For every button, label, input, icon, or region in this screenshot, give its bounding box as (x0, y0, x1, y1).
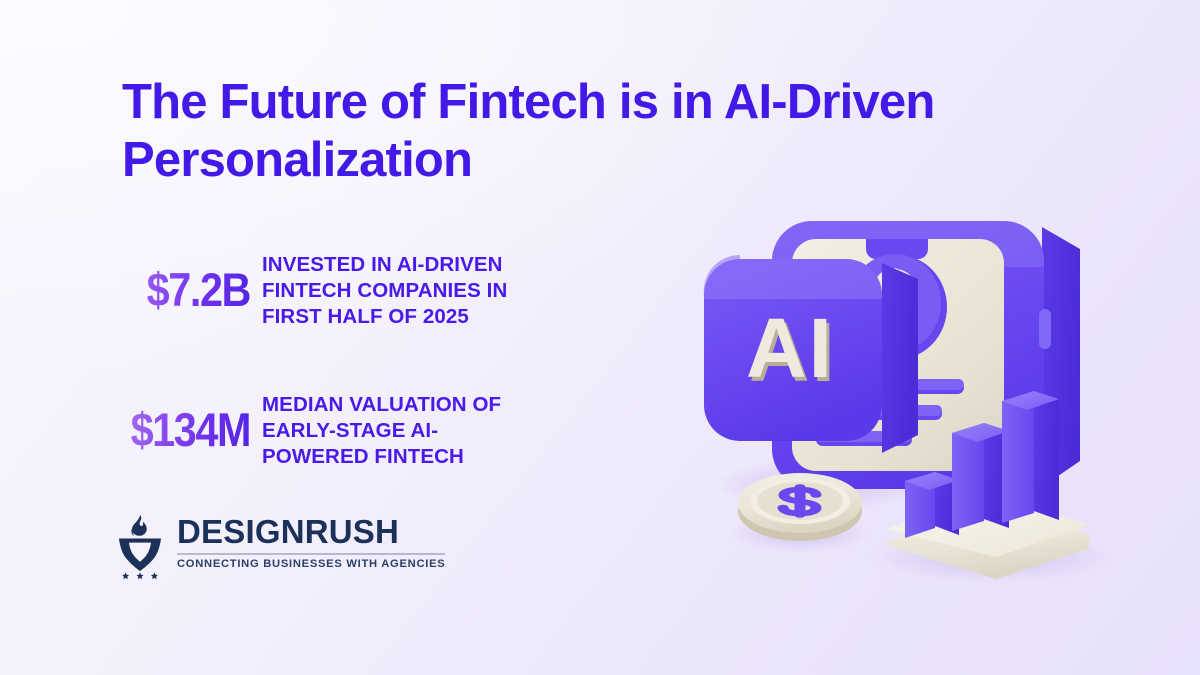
ai-cube-3d: AI AI (704, 255, 918, 453)
infographic-canvas: The Future of Fintech is in AI-Driven Pe… (0, 0, 1200, 675)
stat-block: $134M MEDIAN VALUATION OF EARLY-STAGE AI… (110, 392, 610, 471)
dollar-coin-3d (738, 473, 862, 541)
stat-value: $134M (127, 392, 250, 453)
logo-divider (177, 553, 445, 555)
logo-tagline: CONNECTING BUSINESSES WITH AGENCIES (177, 559, 445, 570)
torch-flame-chevron-three-stars-icon (113, 509, 167, 581)
designrush-logo: DESIGNRUSH CONNECTING BUSINESSES WITH AG… (113, 509, 445, 581)
stat-description: INVESTED IN AI-DRIVEN FINTECH COMPANIES … (262, 252, 507, 331)
stat-description: MEDIAN VALUATION OF EARLY-STAGE AI- POWE… (262, 392, 501, 471)
logo-text-group: DESIGNRUSH CONNECTING BUSINESSES WITH AG… (177, 509, 445, 570)
stat-value: $7.2B (127, 252, 250, 313)
svg-text:AI: AI (746, 301, 834, 395)
page-title: The Future of Fintech is in AI-Driven Pe… (122, 74, 1072, 190)
ai-fintech-3d-illustration: AI AI (690, 185, 1120, 595)
logo-wordmark: DESIGNRUSH (177, 515, 445, 548)
stat-block: $7.2B INVESTED IN AI-DRIVEN FINTECH COMP… (110, 252, 610, 331)
